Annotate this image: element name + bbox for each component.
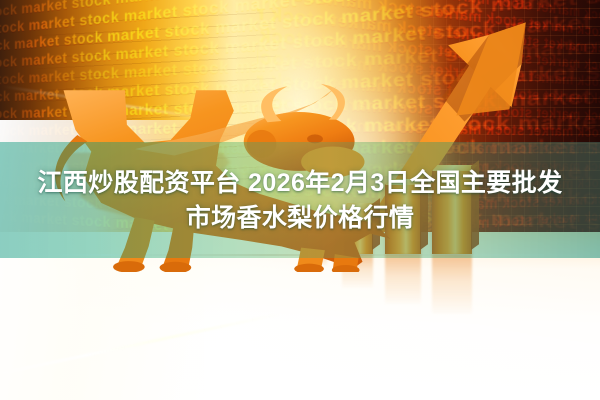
caption-line-1: 江西炒股配资平台 2026年2月3日全国主要批发 [16,168,585,198]
bar-4-reflection [432,254,472,314]
caption-text-block: 江西炒股配资平台 2026年2月3日全国主要批发 市场香水梨价格行情 [0,146,600,254]
caption-line-2: 市场香水梨价格行情 [186,203,415,233]
stock-market-banner: stock market stock market stock market s… [0,0,600,400]
